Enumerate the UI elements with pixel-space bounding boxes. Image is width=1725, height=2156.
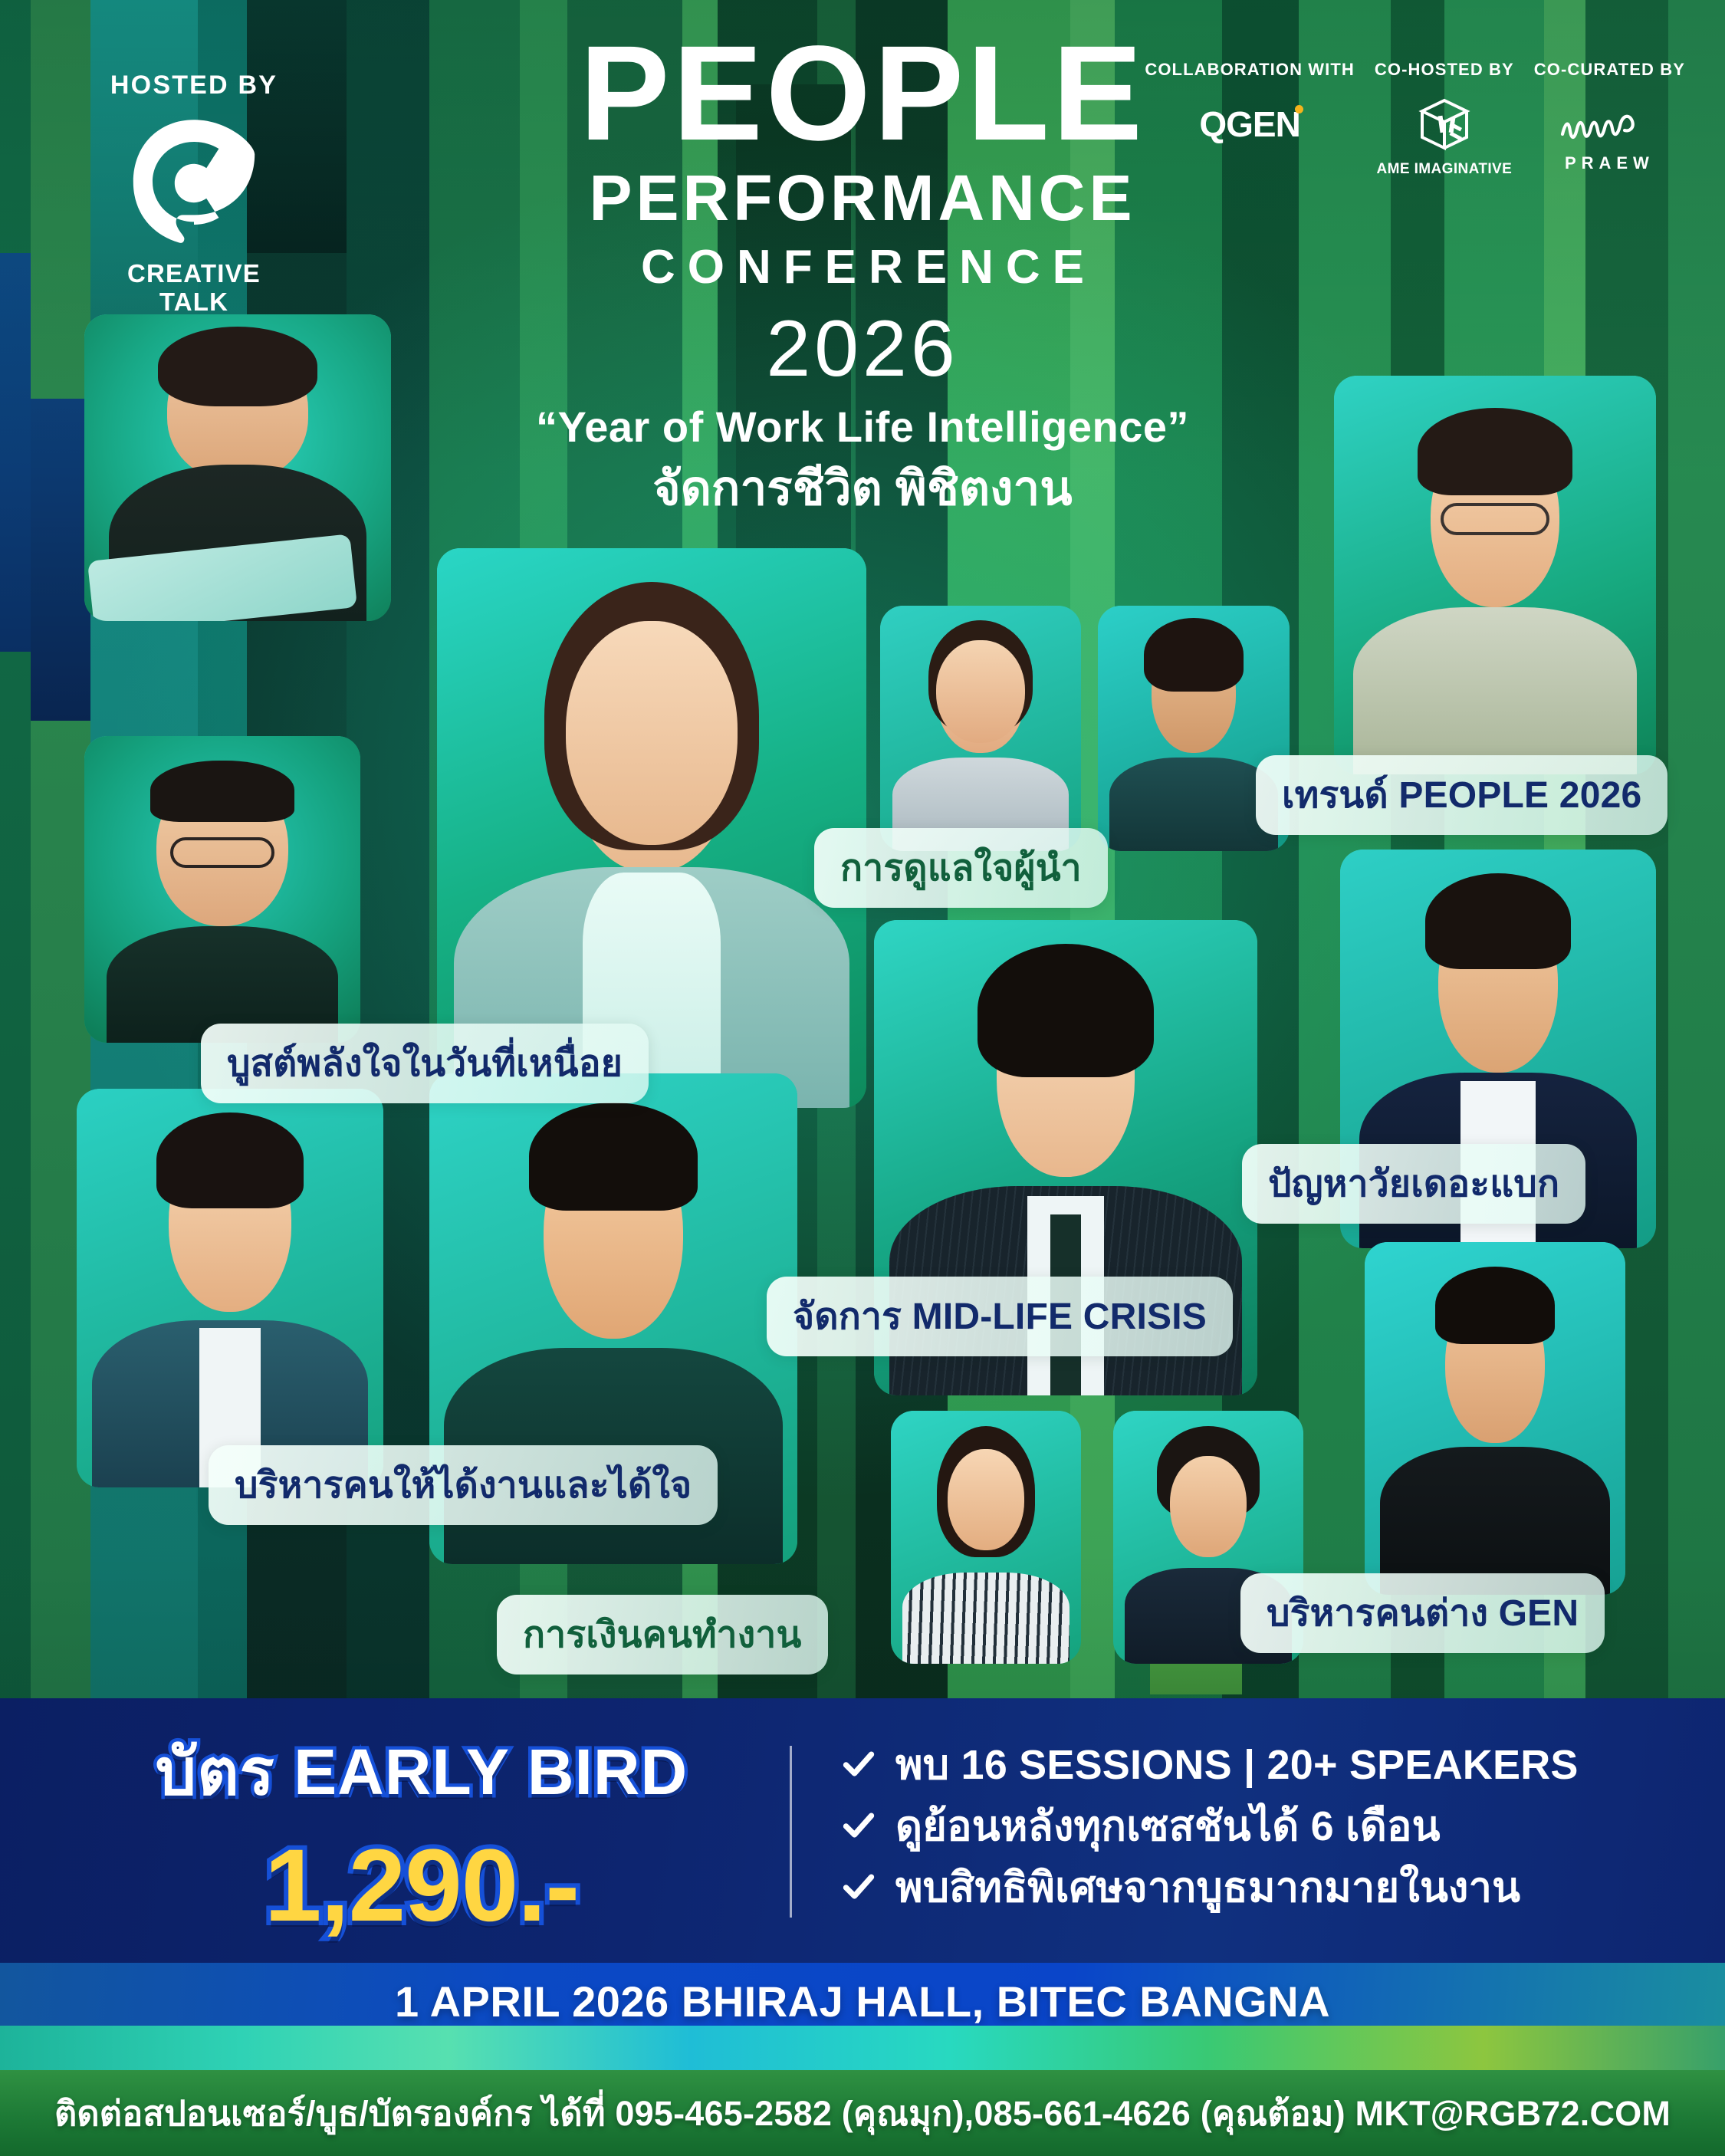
speaker-photo	[1334, 376, 1656, 774]
session-chip-people-management: บริหารคนให้ได้งานและได้ใจ	[209, 1445, 718, 1525]
session-chip-midlife-crisis: จัดการ MID-LIFE CRISIS	[767, 1277, 1233, 1356]
speaker-card	[891, 1411, 1081, 1664]
contact-text: ติดต่อสปอนเซอร์/บูธ/บัตรองค์กร ได้ที่ 09…	[54, 2085, 1671, 2141]
session-label: บูสต์พลังใจในวันที่เหนื่อย	[227, 1043, 623, 1084]
partner-logos: COLLABORATION WITH QGEN CO-HOSTED BY	[1145, 60, 1685, 178]
event-poster: HOSTED BY CREATIVE TALK PEOPLE PERFORMAN…	[0, 0, 1725, 2156]
check-icon	[842, 1809, 876, 1842]
ame-imaginative-cube-logo	[1375, 92, 1514, 156]
session-chip-multigen-management: บริหารคนต่าง GEN	[1240, 1573, 1605, 1653]
partner-label: CO-HOSTED BY	[1375, 60, 1514, 80]
session-chip-trend-people: เทรนด์ PEOPLE 2026	[1256, 755, 1667, 835]
list-item: พบสิทธิพิเศษจากบูธมากมายในงาน	[842, 1856, 1579, 1918]
speaker-card	[1365, 1242, 1625, 1595]
partner-cocurated: CO-CURATED BY PRAEW	[1534, 60, 1685, 173]
check-icon	[842, 1747, 876, 1781]
footer-color-strip	[0, 2026, 1725, 2070]
ticket-benefits-list: พบ 16 SESSIONS | 20+ SPEAKERS ดูย้อนหลัง…	[842, 1734, 1579, 1918]
speaker-photo	[77, 1089, 383, 1487]
qgen-dot-icon	[1295, 105, 1303, 113]
session-chip-worker-finance: การเงินคนทำงาน	[497, 1595, 828, 1675]
session-label: การดูแลใจผู้นำ	[840, 848, 1082, 889]
speaker-photo	[1365, 1242, 1625, 1595]
session-label: จัดการ MID-LIFE CRISIS	[793, 1297, 1207, 1337]
ame-caption: AME IMAGINATIVE	[1375, 161, 1514, 178]
benefit-label: พบ 16 SESSIONS | 20+ SPEAKERS	[895, 1731, 1579, 1797]
speaker-card	[1334, 376, 1656, 774]
speaker-card	[84, 314, 391, 621]
ame-rest: IMAGINATIVE	[1410, 161, 1512, 177]
ticket-price-block: บัตร EARLY BIRD 1,290.-	[84, 1720, 759, 1944]
speaker-card	[77, 1089, 383, 1487]
speaker-photo	[880, 606, 1081, 851]
partner-label: CO-CURATED BY	[1534, 60, 1685, 80]
session-chip-leader-care: การดูแลใจผู้นำ	[814, 828, 1108, 908]
title-conference: CONFERENCE	[0, 237, 1725, 297]
ticket-headline: บัตร EARLY BIRD	[84, 1720, 759, 1822]
session-label: เทรนด์ PEOPLE 2026	[1282, 775, 1641, 816]
praew-caption: PRAEW	[1534, 153, 1685, 173]
speaker-photo	[84, 736, 360, 1043]
list-item: พบ 16 SESSIONS | 20+ SPEAKERS	[842, 1734, 1579, 1795]
session-chip-sandwich-gen: ปัญหาวัยเดอะแบก	[1242, 1144, 1585, 1224]
ticket-price: 1,290.-	[84, 1827, 759, 1944]
speaker-photo	[891, 1411, 1081, 1664]
vertical-divider	[790, 1746, 792, 1918]
session-label: การเงินคนทำงาน	[523, 1615, 802, 1655]
ame-bold: AME	[1377, 161, 1410, 177]
session-label: บริหารคนต่าง GEN	[1267, 1593, 1579, 1634]
speaker-card	[880, 606, 1081, 851]
qgen-wordmark: QGEN	[1199, 104, 1299, 144]
session-label: ปัญหาวัยเดอะแบก	[1268, 1164, 1559, 1205]
venue-text: 1 APRIL 2026 BHIRAJ HALL, BITEC BANGNA	[395, 1977, 1330, 2026]
partner-cohosted: CO-HOSTED BY AME IMAGINATIV	[1375, 60, 1514, 178]
qgen-logo: QGEN	[1145, 92, 1355, 156]
speaker-photo	[84, 314, 391, 621]
contact-footer: ติดต่อสปอนเซอร์/บูธ/บัตรองค์กร ได้ที่ 09…	[0, 2070, 1725, 2156]
benefit-label: พบสิทธิพิเศษจากบูธมากมายในงาน	[895, 1854, 1520, 1920]
session-chip-boost-energy: บูสต์พลังใจในวันที่เหนื่อย	[201, 1024, 649, 1103]
partner-collaboration: COLLABORATION WITH QGEN	[1145, 60, 1355, 156]
list-item: ดูย้อนหลังทุกเซสชันได้ 6 เดือน	[842, 1795, 1579, 1856]
check-icon	[842, 1870, 876, 1904]
ticket-panel: บัตร EARLY BIRD 1,290.- พบ 16 SESSIONS |…	[0, 1698, 1725, 1963]
speaker-card	[84, 736, 360, 1043]
partner-label: COLLABORATION WITH	[1145, 60, 1355, 80]
benefit-label: ดูย้อนหลังทุกเซสชันได้ 6 เดือน	[895, 1793, 1441, 1859]
session-label: บริหารคนให้ได้งานและได้ใจ	[235, 1465, 692, 1506]
praew-script-logo	[1534, 92, 1685, 156]
